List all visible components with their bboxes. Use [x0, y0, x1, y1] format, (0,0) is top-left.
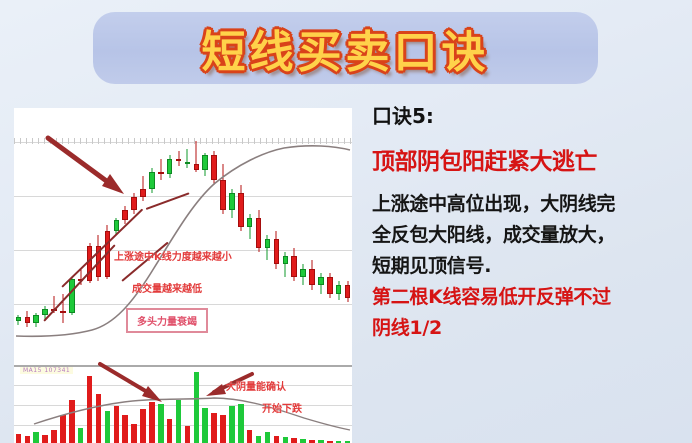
- volume-bar: [60, 415, 66, 443]
- candle: [220, 108, 226, 358]
- lesson-text-column: 口诀5: 顶部阴包阳赶紧大逃亡 上涨途中高位出现，大阴线完 全反包大阳线，成交量…: [372, 100, 684, 344]
- volume-bar: [78, 428, 84, 443]
- candle-body: [114, 220, 120, 231]
- candle-body: [300, 269, 306, 277]
- candle-body: [33, 315, 39, 323]
- stock-chart-panel: 上涨途中K线力度越来越小 成交量越来越低 多头力量衰竭 MA15 107341 …: [14, 108, 352, 443]
- candle: [256, 108, 262, 358]
- bear-volume-note: 大阴量能确认: [226, 378, 286, 393]
- lesson-body-line-2: 全反包大阳线，成交量放大，: [372, 220, 684, 251]
- volume-bar: [202, 408, 208, 443]
- start-falling-note: 开始下跌: [262, 400, 302, 415]
- candle: [25, 108, 31, 358]
- candle: [33, 108, 39, 358]
- candle-body: [318, 277, 324, 285]
- candle: [300, 108, 306, 358]
- volume-bar: [42, 435, 48, 443]
- candle-wick: [187, 149, 188, 168]
- candle: [238, 108, 244, 358]
- volume-bar: [105, 411, 111, 443]
- volume-bar: [131, 424, 137, 443]
- lesson-emphasis-line-2: 阴线1/2: [372, 313, 684, 344]
- volume-bar: [16, 434, 22, 443]
- volume-indicator-label: MA15 107341: [20, 367, 73, 374]
- volume-bar: [149, 402, 155, 443]
- candle-body: [16, 317, 22, 321]
- candle-body: [345, 285, 351, 298]
- candle-body: [140, 189, 146, 197]
- volume-bar: [211, 413, 217, 443]
- volume-bar: [122, 415, 128, 443]
- candle-wick: [160, 159, 161, 180]
- candle-body: [265, 239, 271, 247]
- candle-body: [211, 155, 217, 180]
- candle: [229, 108, 235, 358]
- volume-bar: [229, 406, 235, 443]
- candle-body: [131, 197, 137, 210]
- candle-body: [256, 218, 262, 247]
- candle: [60, 108, 66, 358]
- candle: [309, 108, 315, 358]
- candle-body: [194, 164, 200, 170]
- candle: [78, 108, 84, 358]
- candle-body: [122, 210, 128, 221]
- candle-body: [149, 172, 155, 189]
- volume-bar: [114, 406, 120, 443]
- volume-bar: [274, 436, 280, 443]
- candle: [96, 108, 102, 358]
- gridline: [14, 385, 352, 386]
- candle-wick: [178, 151, 179, 166]
- volume-bar: [291, 438, 297, 443]
- candle-body: [283, 256, 289, 264]
- candle: [327, 108, 333, 358]
- volume-bar: [265, 432, 271, 443]
- volume-bar: [238, 404, 244, 443]
- lesson-number-label: 口诀5:: [372, 100, 684, 129]
- volume-bar: [256, 436, 262, 443]
- candle: [51, 108, 57, 358]
- volume-bar: [96, 394, 102, 443]
- candle: [105, 108, 111, 358]
- volume-bar: [185, 426, 191, 443]
- candle: [265, 108, 271, 358]
- candle-body: [185, 162, 191, 164]
- volume-bar: [25, 436, 31, 443]
- volume-bar: [176, 400, 182, 443]
- candle-body: [167, 159, 173, 174]
- candle-body: [42, 309, 48, 315]
- candle: [274, 108, 280, 358]
- volume-bar: [283, 437, 289, 443]
- volume-bar: [194, 372, 200, 443]
- candle: [318, 108, 324, 358]
- volume-bar: [220, 415, 226, 443]
- volume-bar: [140, 409, 146, 443]
- bull-exhaustion-box: 多头力量衰竭: [126, 308, 208, 333]
- candle: [69, 108, 75, 358]
- page-root: 短线买卖口诀 上涨途中K线力度越来越小 成交量: [0, 0, 692, 443]
- candle-body: [25, 317, 31, 323]
- candle-body: [158, 172, 164, 174]
- volume-bar: [158, 404, 164, 443]
- candle-body: [69, 279, 75, 313]
- candle-body: [176, 159, 182, 161]
- candle-body: [309, 269, 315, 286]
- candle: [336, 108, 342, 358]
- candle-body: [291, 256, 297, 277]
- candle-body: [202, 155, 208, 170]
- candle: [283, 108, 289, 358]
- lesson-body-line-1: 上涨途中高位出现，大阴线完: [372, 189, 684, 220]
- candle-body: [327, 277, 333, 294]
- volume-bar: [33, 432, 39, 443]
- volume-bar: [69, 400, 75, 443]
- title-banner: 短线买卖口诀: [93, 12, 598, 84]
- lesson-emphasis-line-1: 第二根K线容易低开反弹不过: [372, 282, 684, 313]
- volume-bar: [300, 439, 306, 443]
- candle: [211, 108, 217, 358]
- volume-low-note: 成交量越来越低: [132, 280, 202, 295]
- candle: [345, 108, 351, 358]
- candle: [291, 108, 297, 358]
- candle-body: [274, 239, 280, 264]
- candle-body: [247, 218, 253, 226]
- volume-bar: [247, 430, 253, 443]
- volume-bar: [167, 419, 173, 443]
- price-chart-area: 上涨途中K线力度越来越小 成交量越来越低 多头力量衰竭: [14, 108, 352, 358]
- candle-body: [238, 193, 244, 227]
- candle: [247, 108, 253, 358]
- volume-bar: [51, 430, 57, 443]
- candle-body: [60, 311, 66, 313]
- page-title: 短线买卖口诀: [93, 12, 598, 84]
- lesson-headline: 顶部阴包阳赶紧大逃亡: [372, 142, 684, 176]
- volume-chart-area: MA15 107341 大阴量能确认 开始下跌: [14, 358, 352, 443]
- candle-body: [220, 180, 226, 209]
- candle: [16, 108, 22, 358]
- k-strength-note: 上涨途中K线力度越来越小: [114, 248, 232, 263]
- candle-body: [336, 285, 342, 293]
- candle-body: [229, 193, 235, 210]
- candle: [87, 108, 93, 358]
- lesson-body-line-3: 短期见顶信号.: [372, 251, 684, 282]
- volume-bar: [87, 376, 93, 443]
